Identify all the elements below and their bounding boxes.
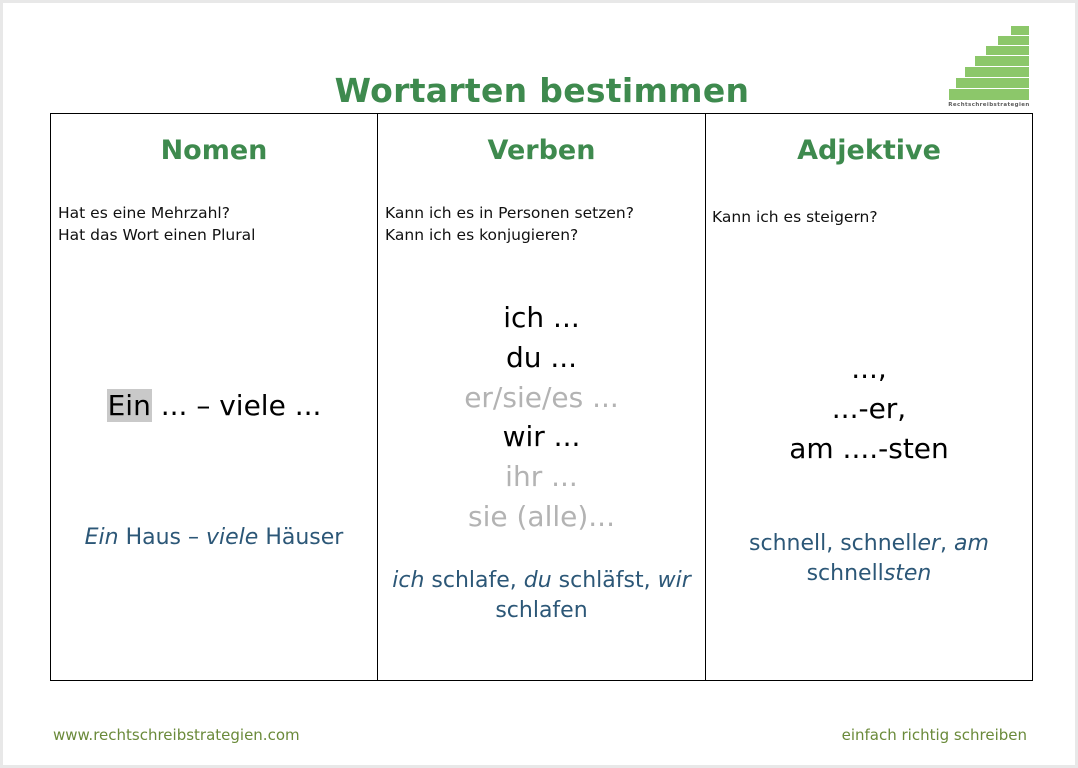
example-nomen-part-0: Ein: [85, 525, 119, 550]
example-nomen-part-2: viele: [206, 525, 258, 550]
example-verben-part-1: schlafe,: [424, 568, 523, 593]
conjugation-line-3: wir ...: [378, 417, 705, 457]
conjugation-line-1: du ...: [378, 338, 705, 378]
conjugation-line-2: er/sie/es ...: [378, 378, 705, 418]
pattern-nomen: Ein ... – viele ...: [51, 386, 377, 426]
example-nomen: Ein Haus – viele Häuser: [51, 523, 377, 553]
example-adjektive-part-2: ,: [940, 531, 954, 556]
example-adjektive-part-4: schnell: [807, 561, 884, 586]
footer-slogan: einfach richtig schreiben: [842, 726, 1027, 744]
example-adjektive-part-0: schnell, schnell: [749, 531, 917, 556]
conjugation-line-4: ihr ...: [378, 457, 705, 497]
question-adjektive: Kann ich es steigern?: [712, 206, 878, 228]
example-verben-part-5: schlafen: [495, 598, 587, 623]
comparison-line-0: ...,: [706, 349, 1032, 389]
example-adjektive-part-3: am: [954, 531, 989, 556]
conjugation-line-5: sie (alle)...: [378, 497, 705, 537]
wordtypes-table: Nomen Hat es eine Mehrzahl? Hat das Wort…: [50, 113, 1033, 681]
comparison-list: ...,...-er,am ....-sten: [706, 349, 1032, 468]
conjugation-list: ich ...du ...er/sie/es ...wir ...ihr ...…: [378, 298, 705, 537]
example-verben: ich schlafe, du schläfst, wir schlafen: [378, 566, 705, 627]
pattern-nomen-rest: ... – viele ...: [152, 389, 322, 422]
example-verben-part-4: wir: [658, 568, 691, 593]
comparison-line-1: ...-er,: [706, 389, 1032, 429]
example-verben-part-3: schläfst,: [552, 568, 658, 593]
comparison-line-2: am ....-sten: [706, 429, 1032, 469]
pattern-nomen-highlight: Ein: [107, 389, 152, 422]
footer-website: www.rechtschreibstrategien.com: [53, 726, 300, 744]
column-nomen: Nomen Hat es eine Mehrzahl? Hat das Wort…: [51, 114, 378, 680]
example-adjektive-part-1: er: [917, 531, 940, 556]
example-verben-part-2: du: [524, 568, 552, 593]
question-nomen: Hat es eine Mehrzahl? Hat das Wort einen…: [58, 202, 255, 246]
column-heading-adjektive: Adjektive: [706, 135, 1032, 166]
example-adjektive: schnell, schneller, am schnellsten: [706, 529, 1032, 590]
conjugation-line-0: ich ...: [378, 298, 705, 338]
example-nomen-part-1: Haus –: [119, 525, 206, 550]
worksheet-page: Rechtschreibstrategien Wortarten bestimm…: [0, 0, 1078, 768]
column-verben: Verben Kann ich es in Personen setzen? K…: [378, 114, 706, 680]
column-heading-nomen: Nomen: [51, 135, 377, 166]
example-verben-part-0: ich: [392, 568, 424, 593]
column-adjektive: Adjektive Kann ich es steigern? ...,...-…: [706, 114, 1032, 680]
question-verben: Kann ich es in Personen setzen? Kann ich…: [385, 202, 634, 246]
example-adjektive-part-5: sten: [884, 561, 932, 586]
example-nomen-part-3: Häuser: [258, 525, 343, 550]
column-heading-verben: Verben: [378, 135, 705, 166]
page-title: Wortarten bestimmen: [3, 71, 1078, 110]
